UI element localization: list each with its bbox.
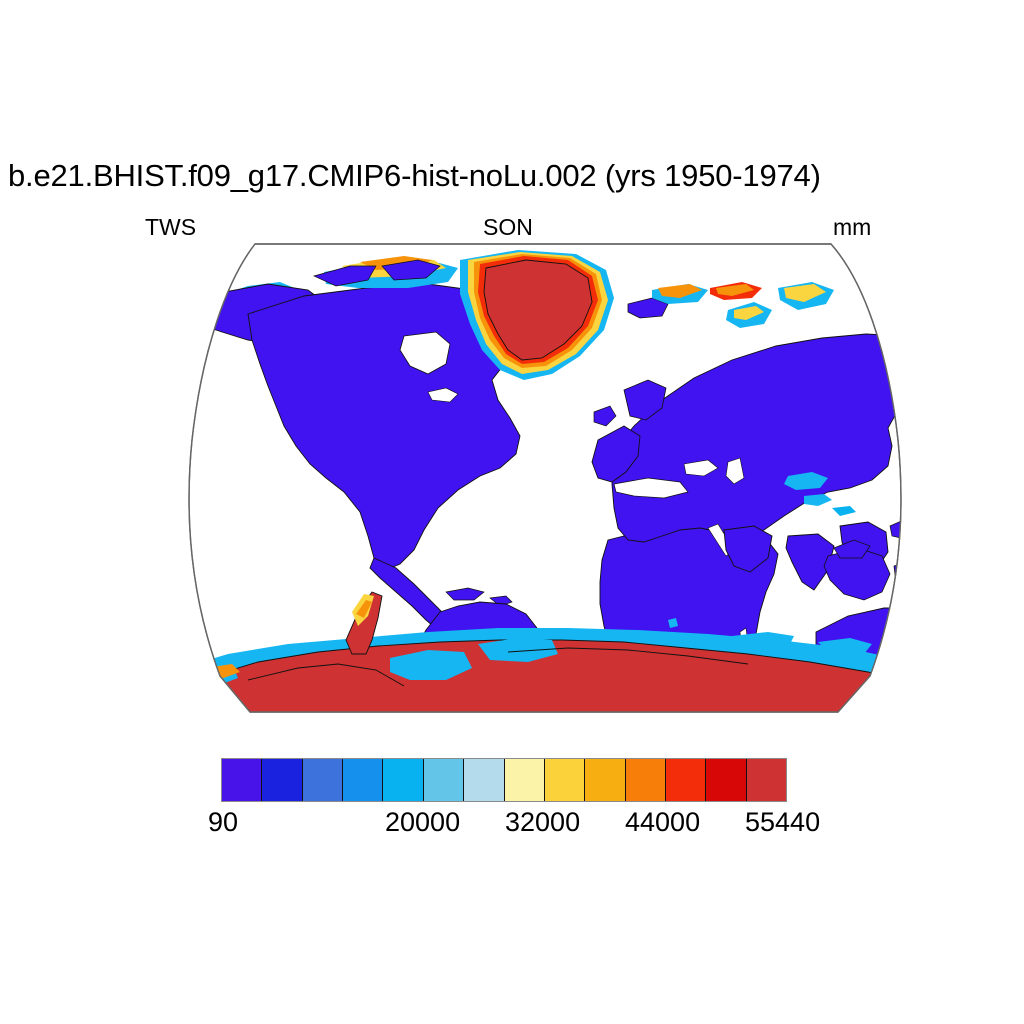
season-label: SON [483,214,533,240]
units-label: mm [833,214,871,240]
land-japan [926,446,948,480]
fringe-antarctica-east-yellow [882,662,928,684]
climate-map-figure: b.e21.BHIST.f09_g17.CMIP6-hist-noLu.002 … [0,0,1024,1024]
colorbar-segment-8[interactable] [505,759,545,801]
colorbar[interactable] [221,758,787,802]
land-tasmania [900,706,918,720]
map-canvas [128,240,958,720]
variable-label: TWS [145,214,196,240]
colorbar-tick-32000: 32000 [505,806,580,838]
colorbar-tick-90: 90 [208,806,238,838]
land-new-guinea [894,558,952,592]
page-title: b.e21.BHIST.f09_g17.CMIP6-hist-noLu.002 … [8,157,821,195]
colorbar-segment-11[interactable] [626,759,666,801]
colorbar-segment-6[interactable] [424,759,464,801]
fringe-australia-ne [952,604,958,620]
colorbar-segment-12[interactable] [666,759,706,801]
colorbar-tick-55440: 55440 [745,806,820,838]
colorbar-tick-44000: 44000 [625,806,700,838]
world-map [128,240,958,720]
colorbar-segment-14[interactable] [747,759,786,801]
colorbar-segment-10[interactable] [585,759,625,801]
colorbar-segment-2[interactable] [262,759,302,801]
colorbar-segment-1[interactable] [222,759,262,801]
colorbar-tick-labels: 9020000320004400055440 [0,806,1024,846]
colorbar-segment-13[interactable] [706,759,746,801]
colorbar-tick-20000: 20000 [385,806,460,838]
colorbar-segment-7[interactable] [464,759,504,801]
colorbar-segment-3[interactable] [303,759,343,801]
colorbar-segment-4[interactable] [343,759,383,801]
colorbar-segment-9[interactable] [545,759,585,801]
colorbar-segment-5[interactable] [383,759,423,801]
